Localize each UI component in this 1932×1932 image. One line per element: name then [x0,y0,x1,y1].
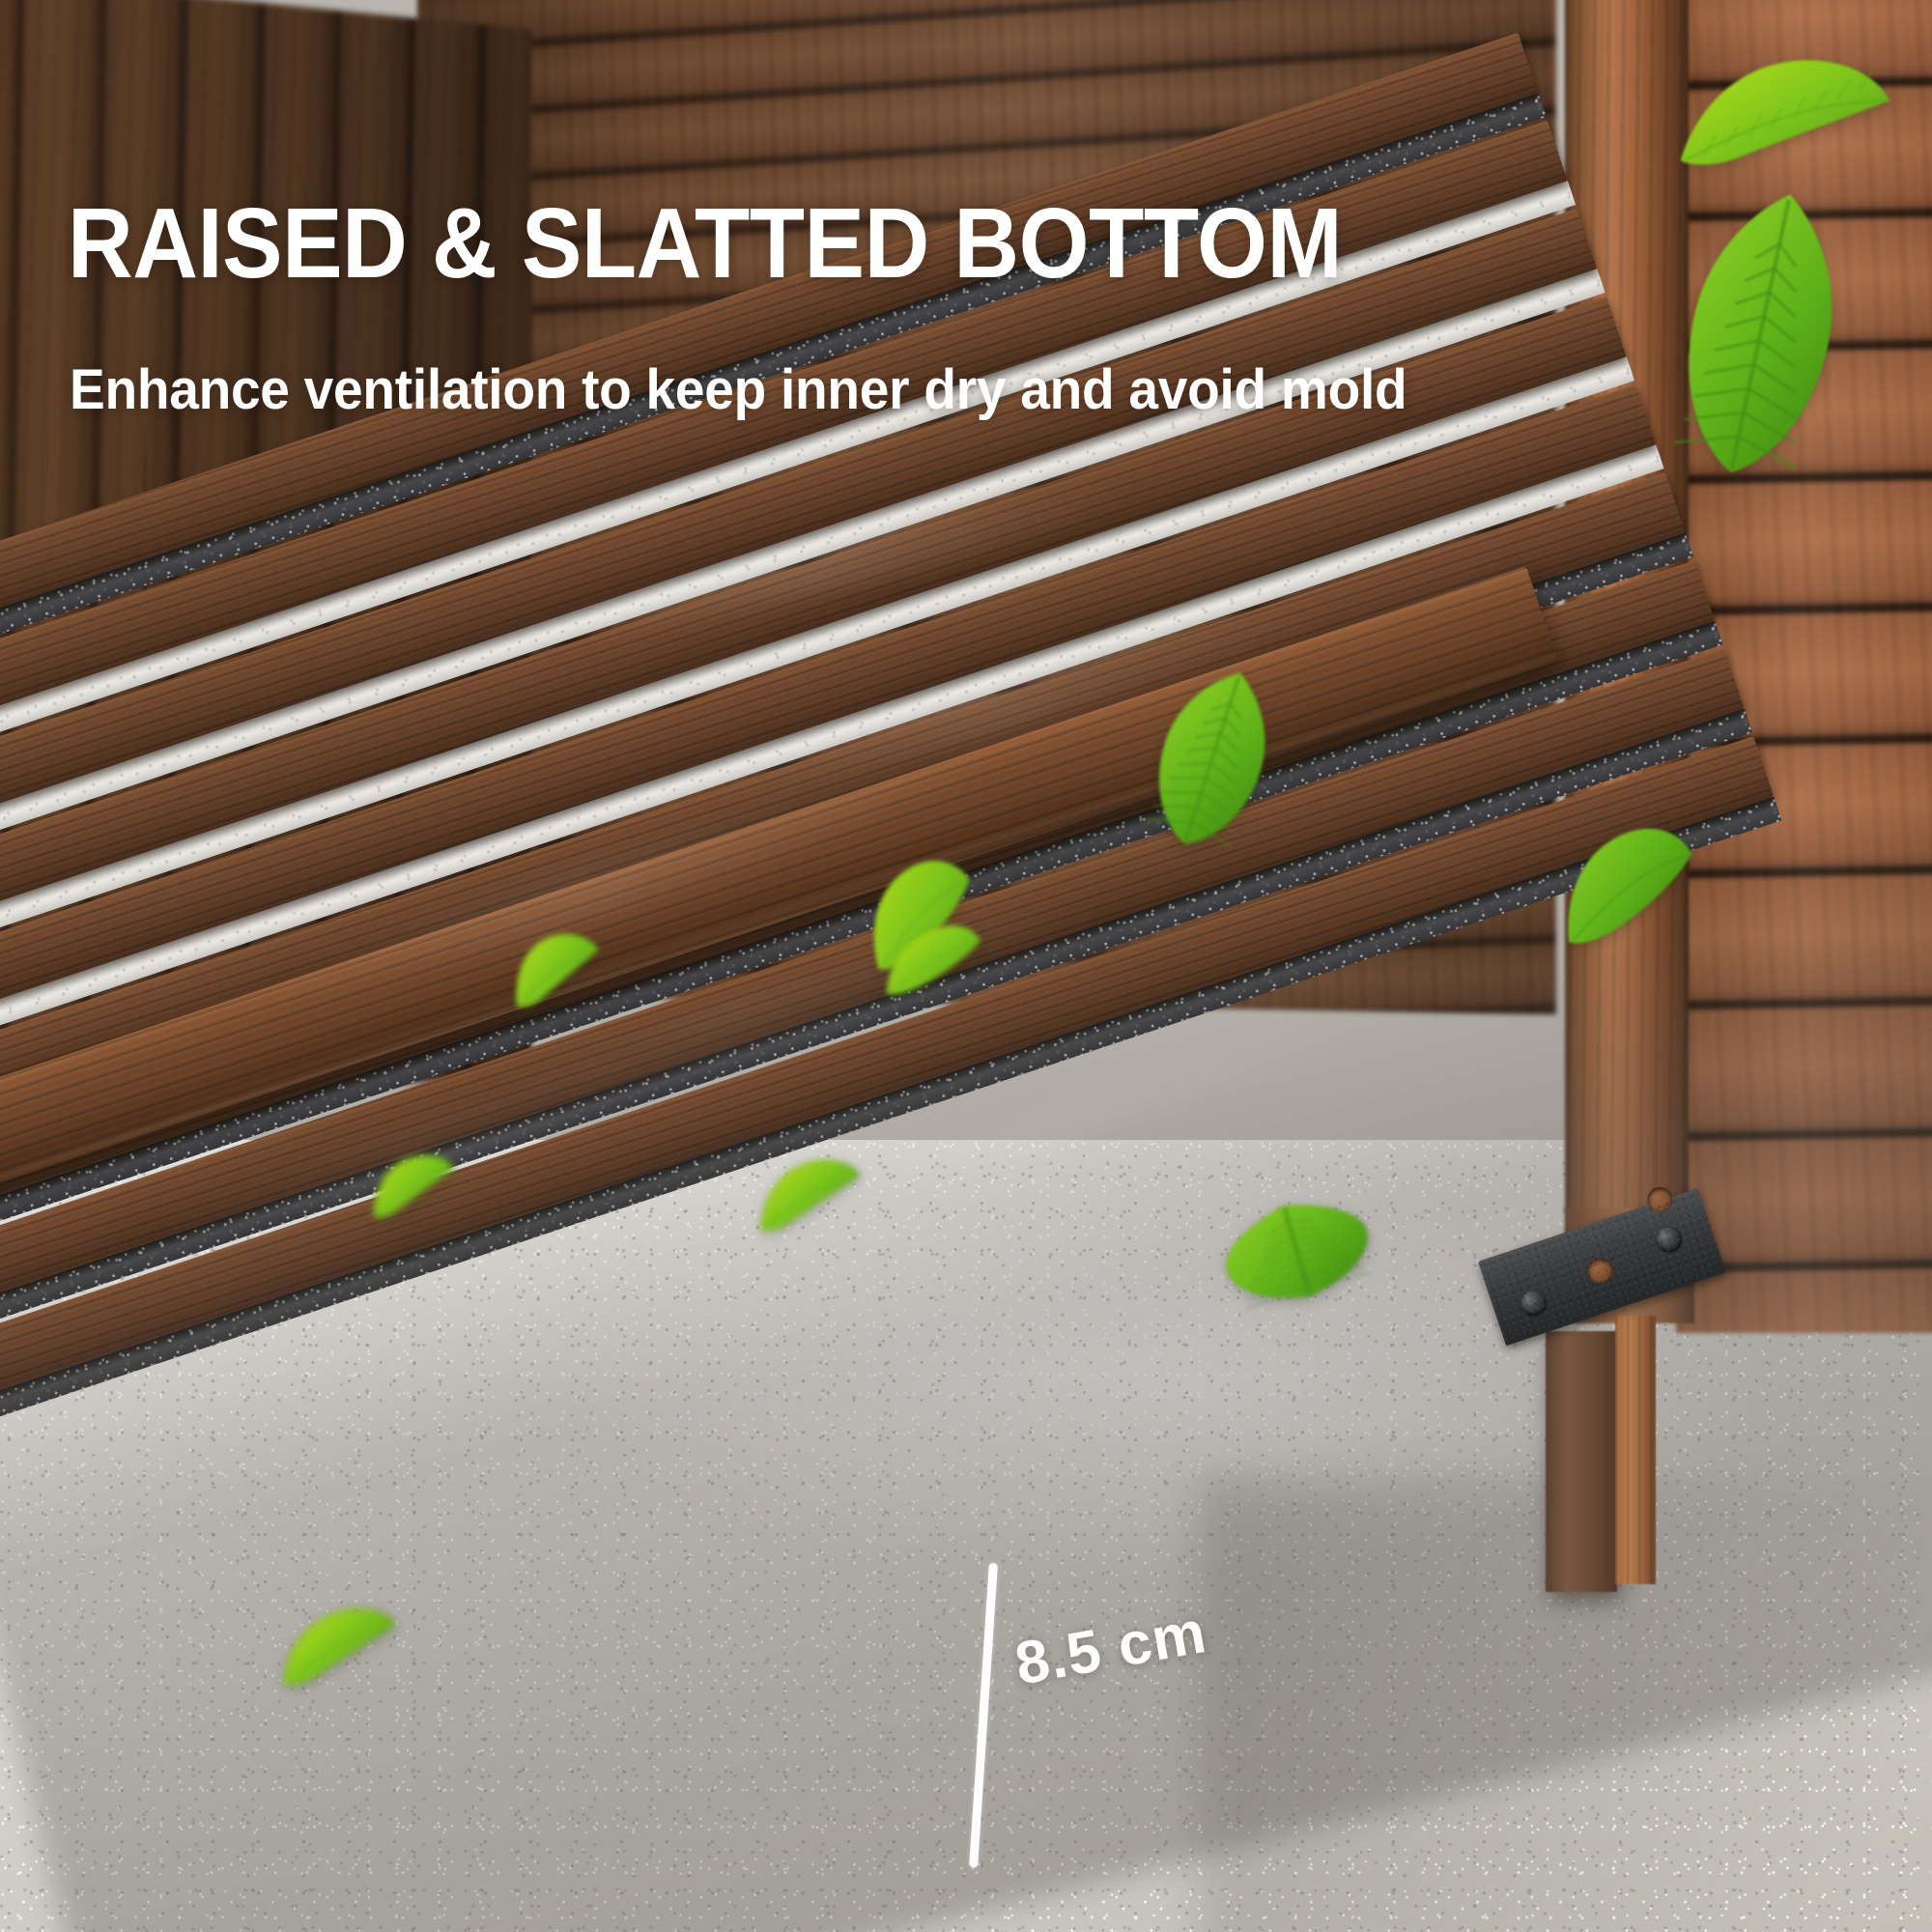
bracket-screw [1518,1287,1549,1319]
page-subtitle: Enhance ventilation to keep inner dry an… [70,362,1406,418]
support-leg-front-face [1546,1331,1617,1592]
product-feature-image: 8.5 cm RAISED & SLATTED BOTTOM Enhance v… [0,0,1932,1932]
support-leg-side-face [1615,1316,1656,1584]
page-title: RAISED & SLATTED BOTTOM [68,193,1342,293]
bracket-screw [1653,1224,1685,1256]
bracket-hole [1584,1255,1616,1287]
